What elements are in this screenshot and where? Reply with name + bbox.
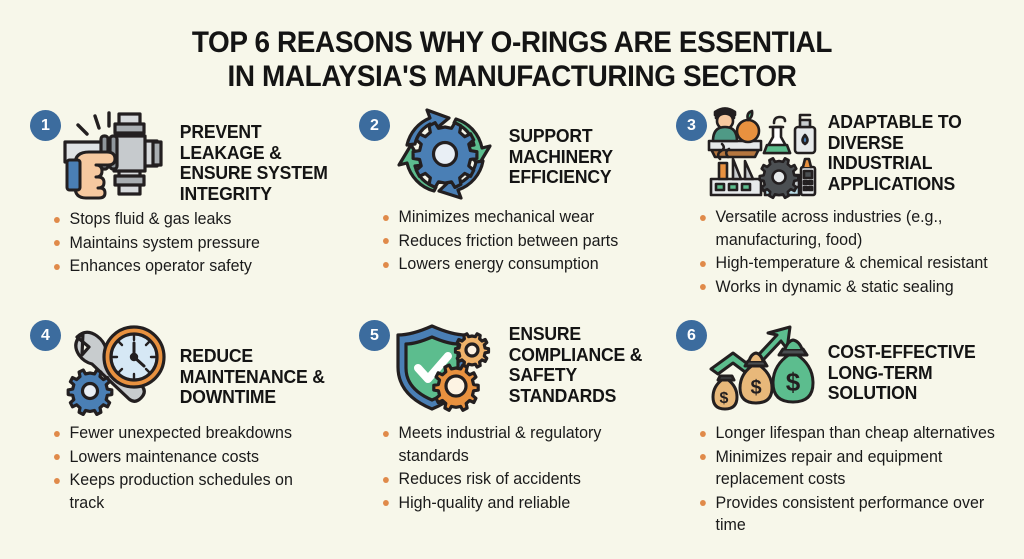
bullet-item: Lowers maintenance costs (54, 446, 330, 469)
card-heading-3: ADAPTABLE TO DIVERSE INDUSTRIAL APPLICAT… (824, 106, 1008, 194)
bullet-item: Versatile across industries (e.g., manuf… (700, 206, 1008, 251)
bullet-item: Fewer unexpected breakdowns (54, 422, 330, 445)
card-number-badge-2: 2 (359, 110, 390, 141)
chemicals-icon (764, 115, 815, 153)
machinery-gear-icon (760, 158, 815, 197)
infographic-root: TOP 6 REASONS WHY O-RINGS ARE ESSENTIAL … (0, 0, 1024, 559)
reason-card-1: 1 (0, 104, 345, 314)
reason-card-5: 5 (345, 314, 660, 538)
card-heading-4: REDUCE MAINTENANCE & DOWNTIME (176, 320, 331, 408)
hand-wrench-pipe-icon (56, 106, 176, 202)
bullet-item: Provides consistent performance over tim… (700, 492, 1008, 537)
bullet-item: Lowers energy consumption (383, 253, 646, 276)
card-head-1: PREVENT LEAKAGE & ENSURE SYSTEM INTEGRIT… (30, 104, 339, 204)
card-bullets-3: Versatile across industries (e.g., manuf… (676, 202, 1018, 298)
card-heading-5: ENSURE COMPLIANCE & SAFETY STANDARDS (505, 320, 647, 406)
bullet-item: High-quality and reliable (383, 492, 646, 515)
card-heading-6: COST-EFFECTIVE LONG-TERM SOLUTION (824, 320, 1008, 404)
card-number-badge-5: 5 (359, 320, 390, 351)
industries-grid-icon (702, 106, 824, 202)
reasons-grid: 1 (0, 104, 1024, 538)
bullet-item: Reduces friction between parts (383, 230, 646, 253)
svg-text:$: $ (720, 390, 729, 407)
wrench-clock-gear-icon (56, 320, 176, 416)
card-head-4: REDUCE MAINTENANCE & DOWNTIME (30, 318, 339, 416)
bullet-item: High-temperature & chemical resistant (700, 252, 1008, 275)
svg-text:$: $ (786, 367, 801, 397)
bullet-item: Reduces risk of accidents (383, 468, 646, 491)
bullet-item: Longer lifespan than cheap alternatives (700, 422, 1008, 445)
bullet-item: Minimizes repair and equipment replaceme… (700, 446, 1008, 491)
food-worker-icon (709, 109, 761, 158)
reason-card-6: 6 $ (660, 314, 1024, 538)
card-bullets-1: Stops fluid & gas leaks Maintains system… (30, 204, 339, 278)
bullet-item: Minimizes mechanical wear (383, 206, 646, 229)
card-bullets-2: Minimizes mechanical wear Reduces fricti… (359, 202, 654, 276)
bullet-item: Meets industrial & regulatory standards (383, 422, 646, 467)
gear-cycle-arrows-icon (385, 106, 505, 202)
card-head-2: SUPPORT MACHINERY EFFICIENCY (359, 104, 654, 202)
title-line-2: IN MALAYSIA'S MANUFACTURING SECTOR (36, 60, 988, 94)
money-bags-growth-arrow-icon: $ $ $ (702, 320, 824, 416)
bullet-item: Works in dynamic & static sealing (700, 276, 1008, 299)
reason-card-2: 2 (345, 104, 660, 314)
title-line-1: TOP 6 REASONS WHY O-RINGS ARE ESSENTIAL (36, 26, 988, 60)
card-number-badge-3: 3 (676, 110, 707, 141)
bullet-item: Keeps production schedules on track (54, 469, 330, 514)
card-bullets-5: Meets industrial & regulatory standards … (359, 416, 654, 514)
card-number-badge-4: 4 (30, 320, 61, 351)
svg-text:$: $ (750, 377, 761, 399)
bullet-item: Enhances operator safety (54, 255, 330, 278)
card-bullets-4: Fewer unexpected breakdowns Lowers maint… (30, 416, 339, 514)
card-heading-2: SUPPORT MACHINERY EFFICIENCY (505, 106, 647, 188)
card-head-6: $ $ $ COST- (676, 318, 1018, 416)
card-number-badge-6: 6 (676, 320, 707, 351)
bullet-item: Maintains system pressure (54, 232, 330, 255)
page-title: TOP 6 REASONS WHY O-RINGS ARE ESSENTIAL … (0, 0, 1024, 94)
card-head-3: ADAPTABLE TO DIVERSE INDUSTRIAL APPLICAT… (676, 104, 1018, 202)
reason-card-3: 3 (660, 104, 1024, 314)
card-head-5: ENSURE COMPLIANCE & SAFETY STANDARDS (359, 318, 654, 416)
shield-check-gears-icon (385, 320, 505, 416)
card-heading-1: PREVENT LEAKAGE & ENSURE SYSTEM INTEGRIT… (176, 106, 331, 204)
reason-card-4: 4 (0, 314, 345, 538)
card-bullets-6: Longer lifespan than cheap alternatives … (676, 416, 1018, 537)
card-number-badge-1: 1 (30, 110, 61, 141)
bullet-item: Stops fluid & gas leaks (54, 208, 330, 231)
